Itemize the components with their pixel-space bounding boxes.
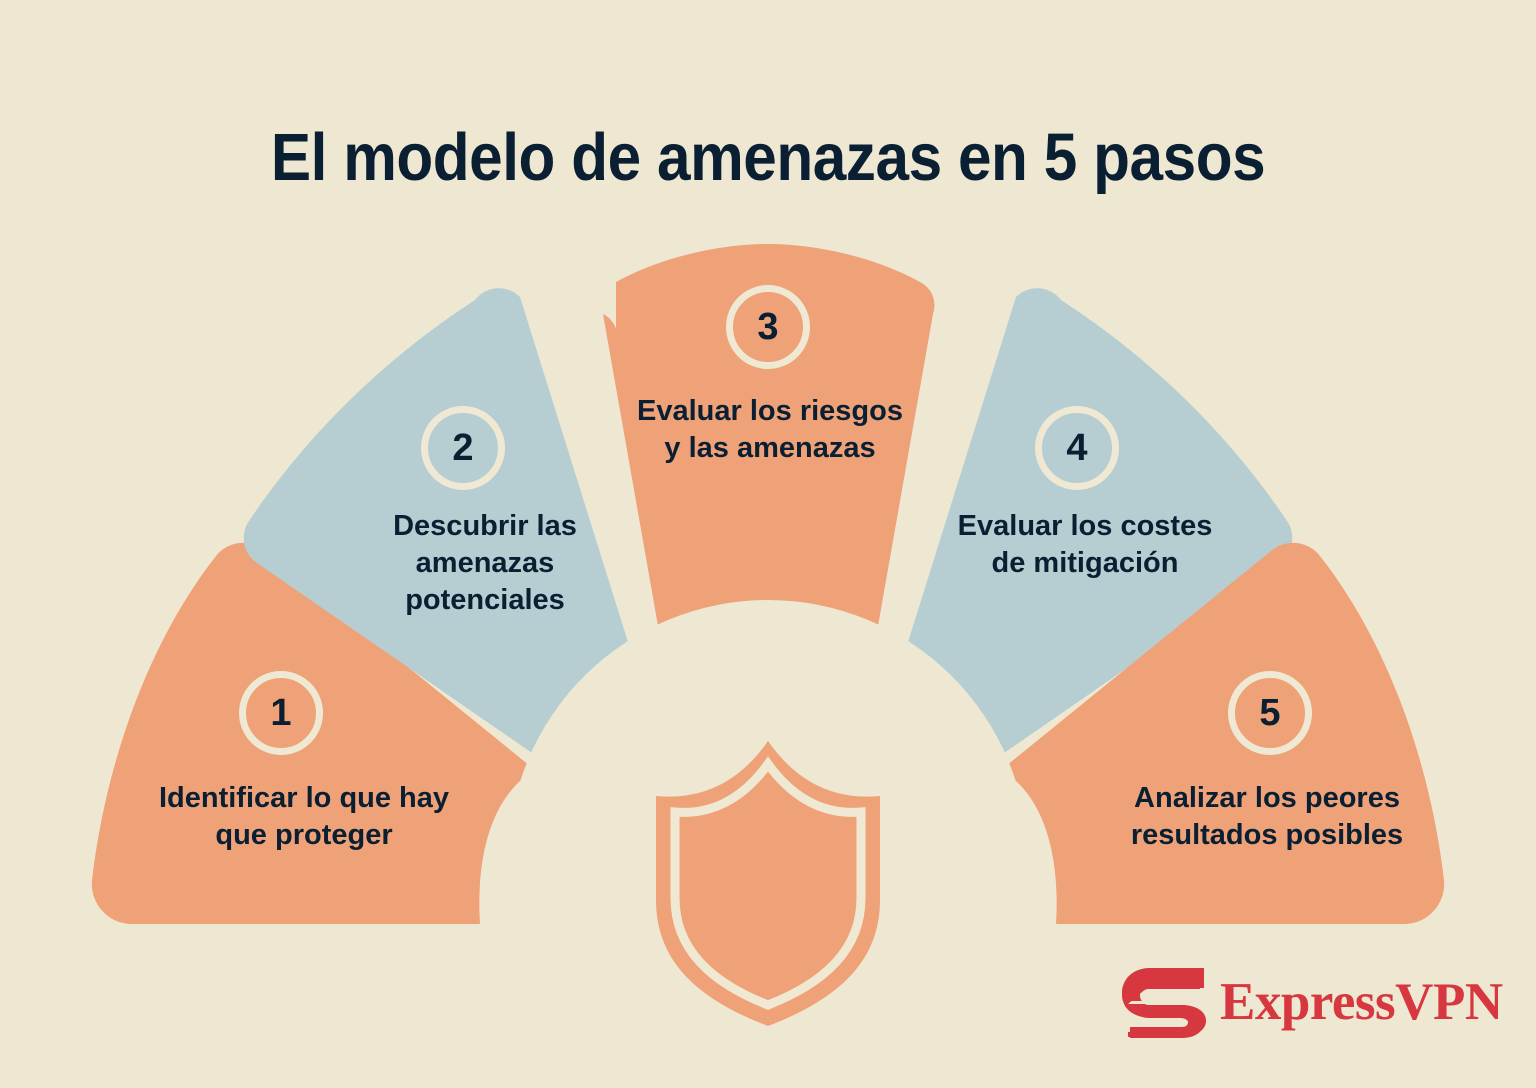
- brand-logo[interactable]: ExpressVPN: [1120, 963, 1440, 1041]
- fan-diagram: [0, 0, 1536, 1088]
- step-badge-4: 4: [1035, 406, 1119, 490]
- infographic-canvas: El modelo de amenazas en 5 pasos 1 Ident…: [0, 0, 1536, 1088]
- brand-wordmark: ExpressVPN: [1220, 976, 1503, 1029]
- step-badge-1: 1: [239, 671, 323, 755]
- expressvpn-e-icon: [1120, 966, 1206, 1038]
- step-badge-2: 2: [421, 406, 505, 490]
- step-badge-5: 5: [1228, 671, 1312, 755]
- step-badge-3: 3: [726, 285, 810, 369]
- step-number-4: 4: [1066, 427, 1087, 470]
- step-number-1: 1: [270, 692, 291, 735]
- step-number-5: 5: [1259, 692, 1280, 735]
- step-number-3: 3: [757, 306, 778, 349]
- step-number-2: 2: [452, 427, 473, 470]
